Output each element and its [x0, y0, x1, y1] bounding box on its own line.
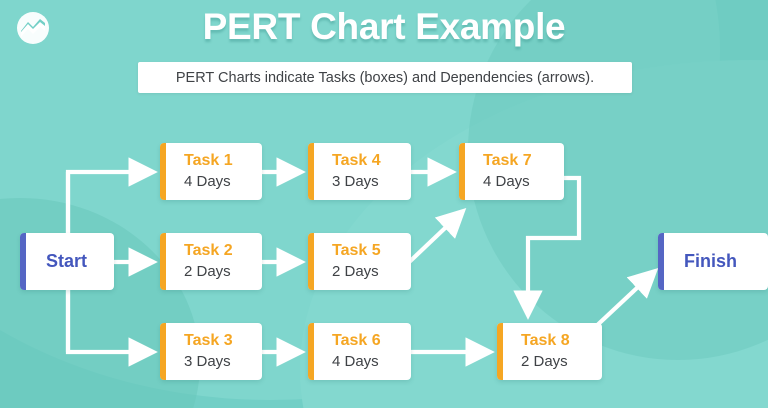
wave-circle-logo-icon — [16, 11, 50, 45]
node-label: Task 8 — [521, 331, 602, 351]
node-duration: 2 Days — [521, 351, 602, 373]
page-title: PERT Chart Example — [0, 6, 768, 48]
node-duration: 4 Days — [332, 351, 411, 373]
node-label: Task 3 — [184, 331, 262, 351]
node-label: Task 6 — [332, 331, 411, 351]
node-label: Task 7 — [483, 151, 564, 171]
node-label: Task 1 — [184, 151, 262, 171]
node-task7[interactable]: Task 7 4 Days — [459, 143, 564, 200]
node-label: Task 4 — [332, 151, 411, 171]
node-task5[interactable]: Task 5 2 Days — [308, 233, 411, 290]
edge-start-task1 — [68, 172, 152, 237]
subtitle-banner: PERT Charts indicate Tasks (boxes) and D… — [138, 62, 632, 93]
edge-start-task3 — [68, 287, 152, 352]
node-duration: 3 Days — [184, 351, 262, 373]
node-duration: 3 Days — [332, 171, 411, 193]
node-label: Finish — [684, 251, 737, 272]
node-label: Start — [46, 251, 87, 272]
node-label: Task 2 — [184, 241, 262, 261]
node-task4[interactable]: Task 4 3 Days — [308, 143, 411, 200]
node-task3[interactable]: Task 3 3 Days — [160, 323, 262, 380]
node-duration: 4 Days — [184, 171, 262, 193]
node-duration: 2 Days — [184, 261, 262, 283]
node-task6[interactable]: Task 6 4 Days — [308, 323, 411, 380]
node-finish[interactable]: Finish — [658, 233, 768, 290]
node-label: Task 5 — [332, 241, 411, 261]
node-task1[interactable]: Task 1 4 Days — [160, 143, 262, 200]
node-start[interactable]: Start — [20, 233, 114, 290]
subtitle-text: PERT Charts indicate Tasks (boxes) and D… — [176, 70, 594, 86]
node-duration: 4 Days — [483, 171, 564, 193]
pert-chart-canvas: PERT Chart Example PERT Charts indicate … — [0, 0, 768, 408]
node-duration: 2 Days — [332, 261, 411, 283]
node-task8[interactable]: Task 8 2 Days — [497, 323, 602, 380]
node-task2[interactable]: Task 2 2 Days — [160, 233, 262, 290]
edge-task8-finish — [592, 272, 654, 330]
